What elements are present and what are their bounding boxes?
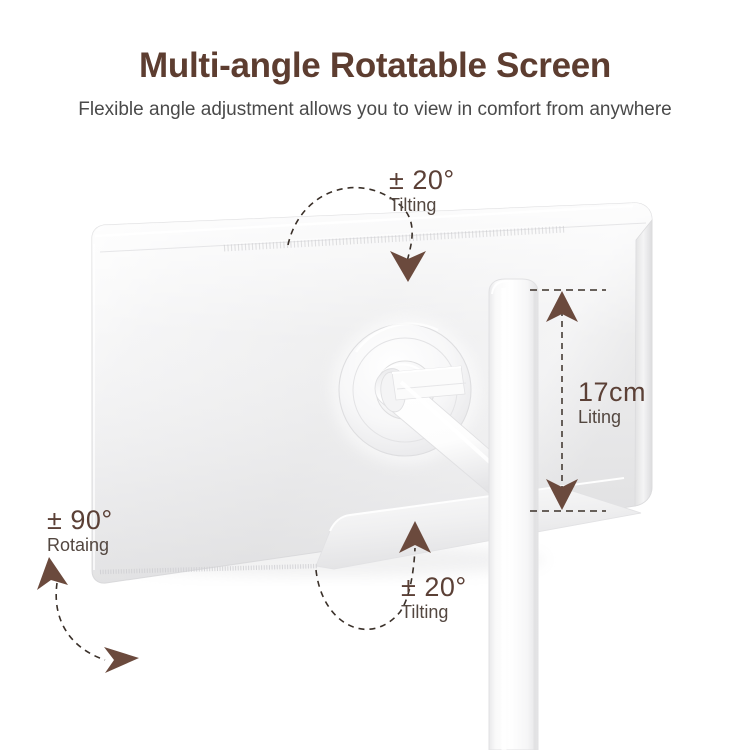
product-illustration [0, 0, 750, 750]
arrow-head-icon [104, 647, 139, 673]
annotation-lift: 17cm Liting [578, 378, 646, 427]
annotation-value: ± 20° [389, 166, 455, 195]
annotation-caption: Tilting [389, 196, 455, 215]
annotation-caption: Rotaing [47, 536, 113, 555]
infographic-canvas: Multi-angle Rotatable Screen Flexible an… [0, 0, 750, 750]
stand-pole [489, 279, 538, 750]
annotation-tilt-top: ± 20° Tilting [389, 166, 455, 215]
annotation-value: ± 20° [401, 573, 467, 602]
annotation-value: ± 90° [47, 506, 113, 535]
panel-side-wall [635, 220, 652, 506]
annotation-tilt-bottom: ± 20° Tilting [401, 573, 467, 622]
annotation-rotate: ± 90° Rotaing [47, 506, 113, 555]
annotation-caption: Tilting [401, 603, 467, 622]
annotation-value: 17cm [578, 378, 646, 407]
arrow-head-icon [37, 557, 68, 590]
annotation-caption: Liting [578, 408, 646, 427]
